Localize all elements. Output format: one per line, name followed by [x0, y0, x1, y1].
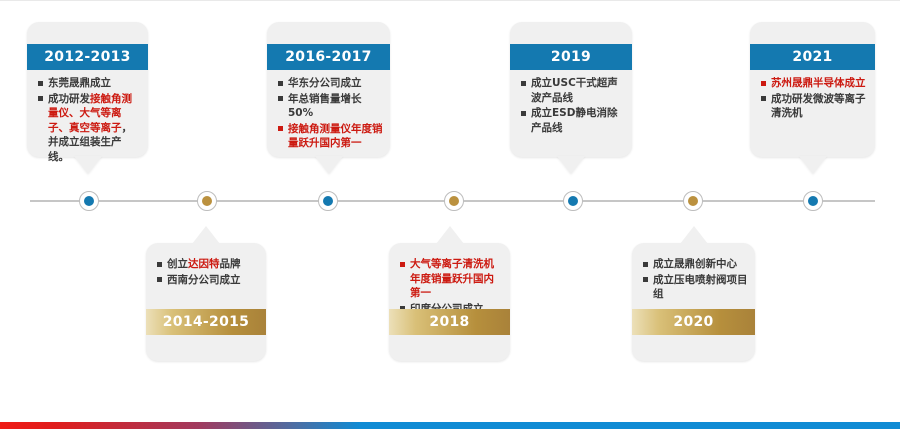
list-item: 华东分公司成立 [276, 76, 383, 91]
bullet-list-2012-2013: 东莞晟鼎成立 成功研发接触角测量仪、大气等离子、真空等离子，并成立组装生产线。 [36, 76, 141, 165]
bullet-list-2019: 成立USC干式超声波产品线 成立ESD静电消除产品线 [519, 76, 625, 136]
year-label-2020: 2020 [632, 309, 755, 335]
bullet-text: 成立ESD静电消除产品线 [531, 106, 625, 135]
card-tail [799, 156, 827, 174]
bullet-square-icon [521, 81, 526, 86]
card-2012-2013[interactable]: 2012-2013 东莞晟鼎成立 成功研发接触角测量仪、大气等离子、真空等离子，… [27, 22, 148, 157]
bullet-list-2014-2015: 创立达因特品牌 西南分公司成立 [155, 257, 259, 288]
bullet-square-icon [521, 111, 526, 116]
bullet-text: 成功研发微波等离子清洗机 [771, 92, 868, 121]
card-2018[interactable]: 大气等离子清洗机年度销量跃升国内第一 印度分公司成立 2018 [389, 243, 510, 361]
list-item: 创立达因特品牌 [155, 257, 259, 272]
bullet-square-icon [157, 277, 162, 282]
card-tail [557, 156, 585, 174]
bullet-text: 华东分公司成立 [288, 76, 383, 91]
year-label-2019: 2019 [510, 44, 632, 70]
bullet-square-icon [38, 96, 43, 101]
list-item: 成立ESD静电消除产品线 [519, 106, 625, 135]
bullet-text: 年总销售量增长50% [288, 92, 383, 121]
list-item: 西南分公司成立 [155, 273, 259, 288]
bullet-square-icon [278, 81, 283, 86]
card-2020[interactable]: 成立晟鼎创新中心 成立压电喷射阀项目组 2020 [632, 243, 755, 361]
dot-2019[interactable] [563, 191, 583, 211]
bullet-text: 创立达因特品牌 [167, 257, 259, 272]
bullet-text: 苏州晟鼎半导体成立 [771, 76, 868, 91]
dot-2018[interactable] [444, 191, 464, 211]
timeline-infographic: 2012-2013 东莞晟鼎成立 成功研发接触角测量仪、大气等离子、真空等离子，… [0, 0, 900, 434]
year-label-2012-2013: 2012-2013 [27, 44, 148, 70]
list-item: 东莞晟鼎成立 [36, 76, 141, 91]
list-item: 年总销售量增长50% [276, 92, 383, 121]
dot-2014-2015[interactable] [197, 191, 217, 211]
bullet-square-icon [643, 262, 648, 267]
dot-2012-2013[interactable] [79, 191, 99, 211]
bullet-square-icon [400, 262, 405, 267]
bullet-list-2018: 大气等离子清洗机年度销量跃升国内第一 印度分公司成立 [398, 257, 503, 317]
bullet-square-icon [643, 277, 648, 282]
card-tail [436, 226, 464, 244]
card-tail [680, 226, 708, 244]
card-2019[interactable]: 2019 成立USC干式超声波产品线 成立ESD静电消除产品线 [510, 22, 632, 157]
year-label-2018: 2018 [389, 309, 510, 335]
bullet-list-2016-2017: 华东分公司成立 年总销售量增长50% 接触角测量仪年度销量跃升国内第一 [276, 76, 383, 152]
footer-accent-bar [0, 422, 900, 429]
list-item: 大气等离子清洗机年度销量跃升国内第一 [398, 257, 503, 301]
list-item: 成立USC干式超声波产品线 [519, 76, 625, 105]
bullet-list-2021: 苏州晟鼎半导体成立 成功研发微波等离子清洗机 [759, 76, 868, 122]
card-2014-2015[interactable]: 创立达因特品牌 西南分公司成立 2014-2015 [146, 243, 266, 361]
list-item: 成功研发接触角测量仪、大气等离子、真空等离子，并成立组装生产线。 [36, 92, 141, 165]
bullet-text: 东莞晟鼎成立 [48, 76, 141, 91]
bullet-text: 成立USC干式超声波产品线 [531, 76, 625, 105]
bullet-square-icon [38, 81, 43, 86]
top-divider [0, 0, 900, 1]
bullet-square-icon [761, 96, 766, 101]
bullet-text: 西南分公司成立 [167, 273, 259, 288]
dot-2021[interactable] [803, 191, 823, 211]
card-tail [74, 156, 102, 174]
bullet-square-icon [278, 126, 283, 131]
bullet-text: 成立压电喷射阀项目组 [653, 273, 748, 302]
list-item: 成功研发微波等离子清洗机 [759, 92, 868, 121]
list-item: 成立压电喷射阀项目组 [641, 273, 748, 302]
list-item: 成立晟鼎创新中心 [641, 257, 748, 272]
card-2016-2017[interactable]: 2016-2017 华东分公司成立 年总销售量增长50% 接触角测量仪年度销量跃… [267, 22, 390, 157]
list-item: 接触角测量仪年度销量跃升国内第一 [276, 122, 383, 151]
list-item: 苏州晟鼎半导体成立 [759, 76, 868, 91]
bullet-square-icon [761, 81, 766, 86]
card-tail [192, 226, 220, 244]
year-label-2016-2017: 2016-2017 [267, 44, 390, 70]
bullet-text: 成立晟鼎创新中心 [653, 257, 748, 272]
card-tail [315, 156, 343, 174]
bullet-square-icon [278, 96, 283, 101]
bullet-square-icon [157, 262, 162, 267]
card-2021[interactable]: 2021 苏州晟鼎半导体成立 成功研发微波等离子清洗机 [750, 22, 875, 157]
bullet-text: 大气等离子清洗机年度销量跃升国内第一 [410, 257, 503, 301]
bullet-text: 成功研发接触角测量仪、大气等离子、真空等离子，并成立组装生产线。 [48, 92, 141, 165]
year-label-2014-2015: 2014-2015 [146, 309, 266, 335]
year-label-2021: 2021 [750, 44, 875, 70]
bullet-text: 接触角测量仪年度销量跃升国内第一 [288, 122, 383, 151]
dot-2016-2017[interactable] [318, 191, 338, 211]
dot-2020[interactable] [683, 191, 703, 211]
bullet-list-2020: 成立晟鼎创新中心 成立压电喷射阀项目组 [641, 257, 748, 303]
